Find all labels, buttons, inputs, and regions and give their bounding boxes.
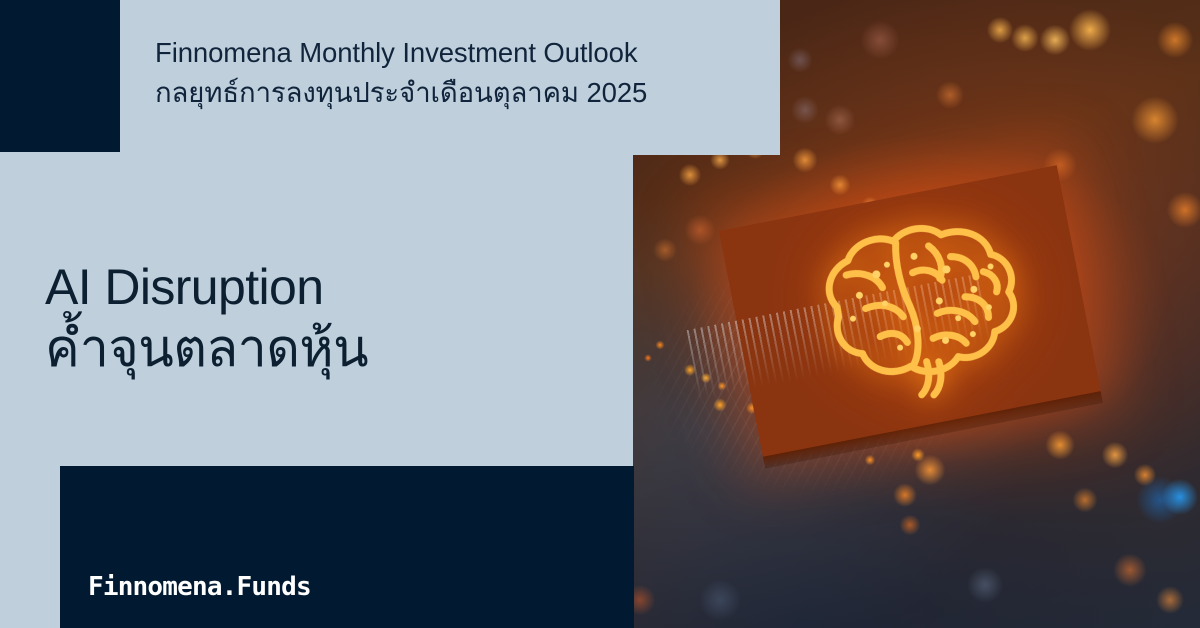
left-edge-strip [0,466,60,628]
cover-canvas: Finnomena Monthly Investment Outlook กลย… [0,0,1200,628]
page-title: AI Disruption ค้ำจุนตลาดหุ้น [45,256,605,380]
brand-logo: Finnomena.Funds [88,572,311,602]
header-title-line-1: Finnomena Monthly Investment Outlook [155,33,765,73]
header-title: Finnomena Monthly Investment Outlook กลย… [155,33,765,113]
decorative-navy-block-top-left [0,0,120,152]
page-title-line-2: ค้ำจุนตลาดหุ้น [45,318,605,380]
brain-icon [777,193,1064,421]
page-title-line-1: AI Disruption [45,256,605,318]
footer-navy-block [60,466,634,628]
header-title-line-2: กลยุทธ์การลงทุนประจำเดือนตุลาคม 2025 [155,73,765,113]
